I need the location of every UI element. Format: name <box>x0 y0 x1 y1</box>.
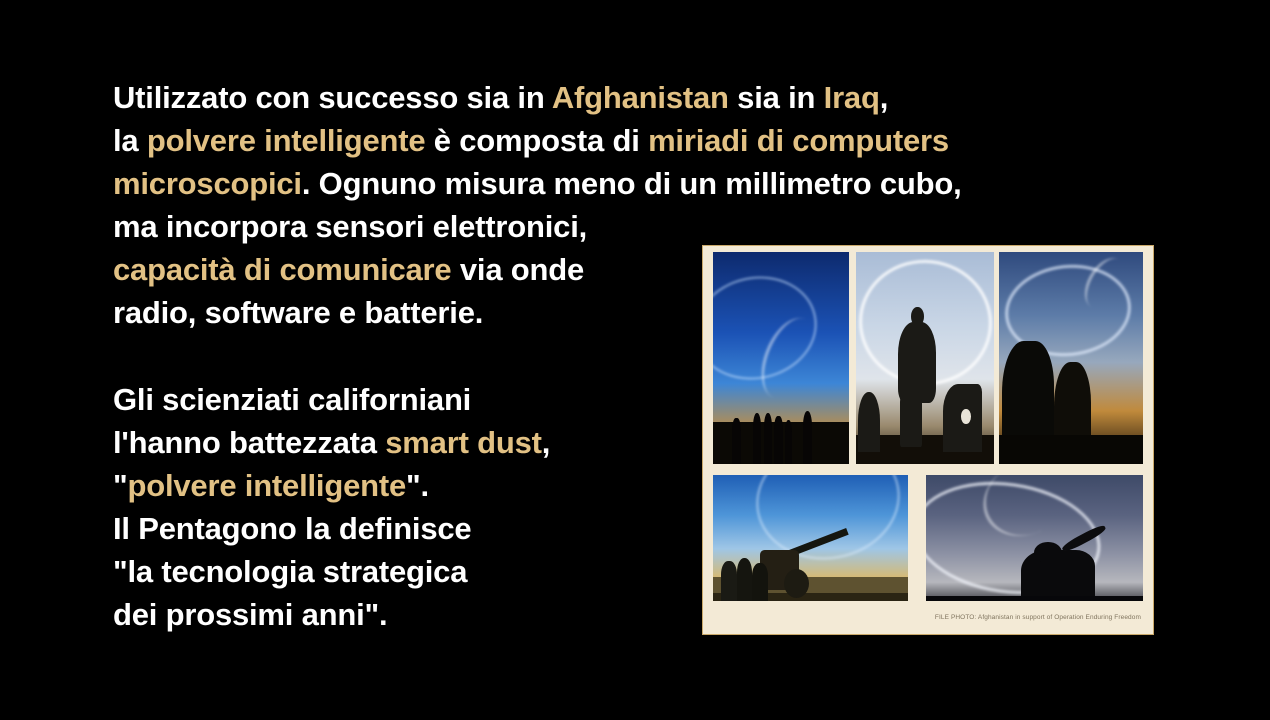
figure <box>774 416 782 465</box>
text-run: "la tecnologia strategica <box>113 554 467 589</box>
panel-statue-sky <box>856 252 994 464</box>
highlighted-phrase: smart dust <box>385 425 541 460</box>
text-run: radio, software e batterie. <box>113 295 483 330</box>
text-run: . Ognuno misura meno di un millimetro cu… <box>302 166 962 201</box>
text-run: l'hanno battezzata <box>113 425 385 460</box>
photo-collage: FILE PHOTO: Afghanistan in support of Op… <box>702 245 1154 635</box>
video-frame: Utilizzato con successo sia in Afghanist… <box>0 0 1270 720</box>
text-line: la polvere intelligente è composta di mi… <box>113 119 1158 162</box>
text-run: è composta di <box>425 123 648 158</box>
text-run: Gli scienziati californiani <box>113 382 471 417</box>
highlight-dot <box>961 409 971 424</box>
highlighted-phrase: polvere intelligente <box>128 468 407 503</box>
highlighted-phrase: capacità di comunicare <box>113 252 451 287</box>
text-run: la <box>113 123 147 158</box>
figure <box>803 411 813 464</box>
text-run: dei prossimi anni". <box>113 597 387 632</box>
panel-two-soldiers-sunset <box>999 252 1142 464</box>
panel-soldiers-silhouette <box>713 252 849 464</box>
ground-line <box>999 435 1142 465</box>
figure <box>764 413 772 464</box>
text-line: Utilizzato con successo sia in Afghanist… <box>113 76 1158 119</box>
statue-base <box>900 392 922 447</box>
highlighted-phrase: microscopici <box>113 166 302 201</box>
text-run: ". <box>406 468 429 503</box>
text-run: Il Pentagono la definisce <box>113 511 471 546</box>
collage-caption-text: FILE PHOTO: Afghanistan in support of Op… <box>935 614 1141 621</box>
collage-grid <box>709 252 1147 609</box>
text-run: sia in <box>729 80 824 115</box>
text-run: " <box>113 468 128 503</box>
text-run: , <box>542 425 550 460</box>
panel-artillery-gun <box>713 475 908 609</box>
text-line: microscopici. Ognuno misura meno di un m… <box>113 162 1158 205</box>
text-run: via onde <box>451 252 584 287</box>
panel-soldier-pointing <box>926 475 1143 609</box>
collage-caption-bar: FILE PHOTO: Afghanistan in support of Op… <box>709 601 1147 634</box>
highlighted-phrase: polvere intelligente <box>147 123 426 158</box>
highlighted-phrase: miriadi di computers <box>648 123 949 158</box>
text-run: , <box>880 80 888 115</box>
figure <box>785 420 792 465</box>
foreground-shape-left <box>858 392 880 451</box>
statue-body <box>898 322 937 403</box>
figure <box>753 413 761 464</box>
gun-wheel <box>784 569 809 598</box>
text-run: Utilizzato con successo sia in <box>113 80 552 115</box>
text-line: ma incorpora sensori elettronici, <box>113 205 1158 248</box>
text-run: ma incorpora sensori elettronici, <box>113 209 587 244</box>
figure <box>732 418 740 465</box>
highlighted-phrase: Afghanistan <box>552 80 729 115</box>
highlighted-phrase: Iraq <box>824 80 880 115</box>
